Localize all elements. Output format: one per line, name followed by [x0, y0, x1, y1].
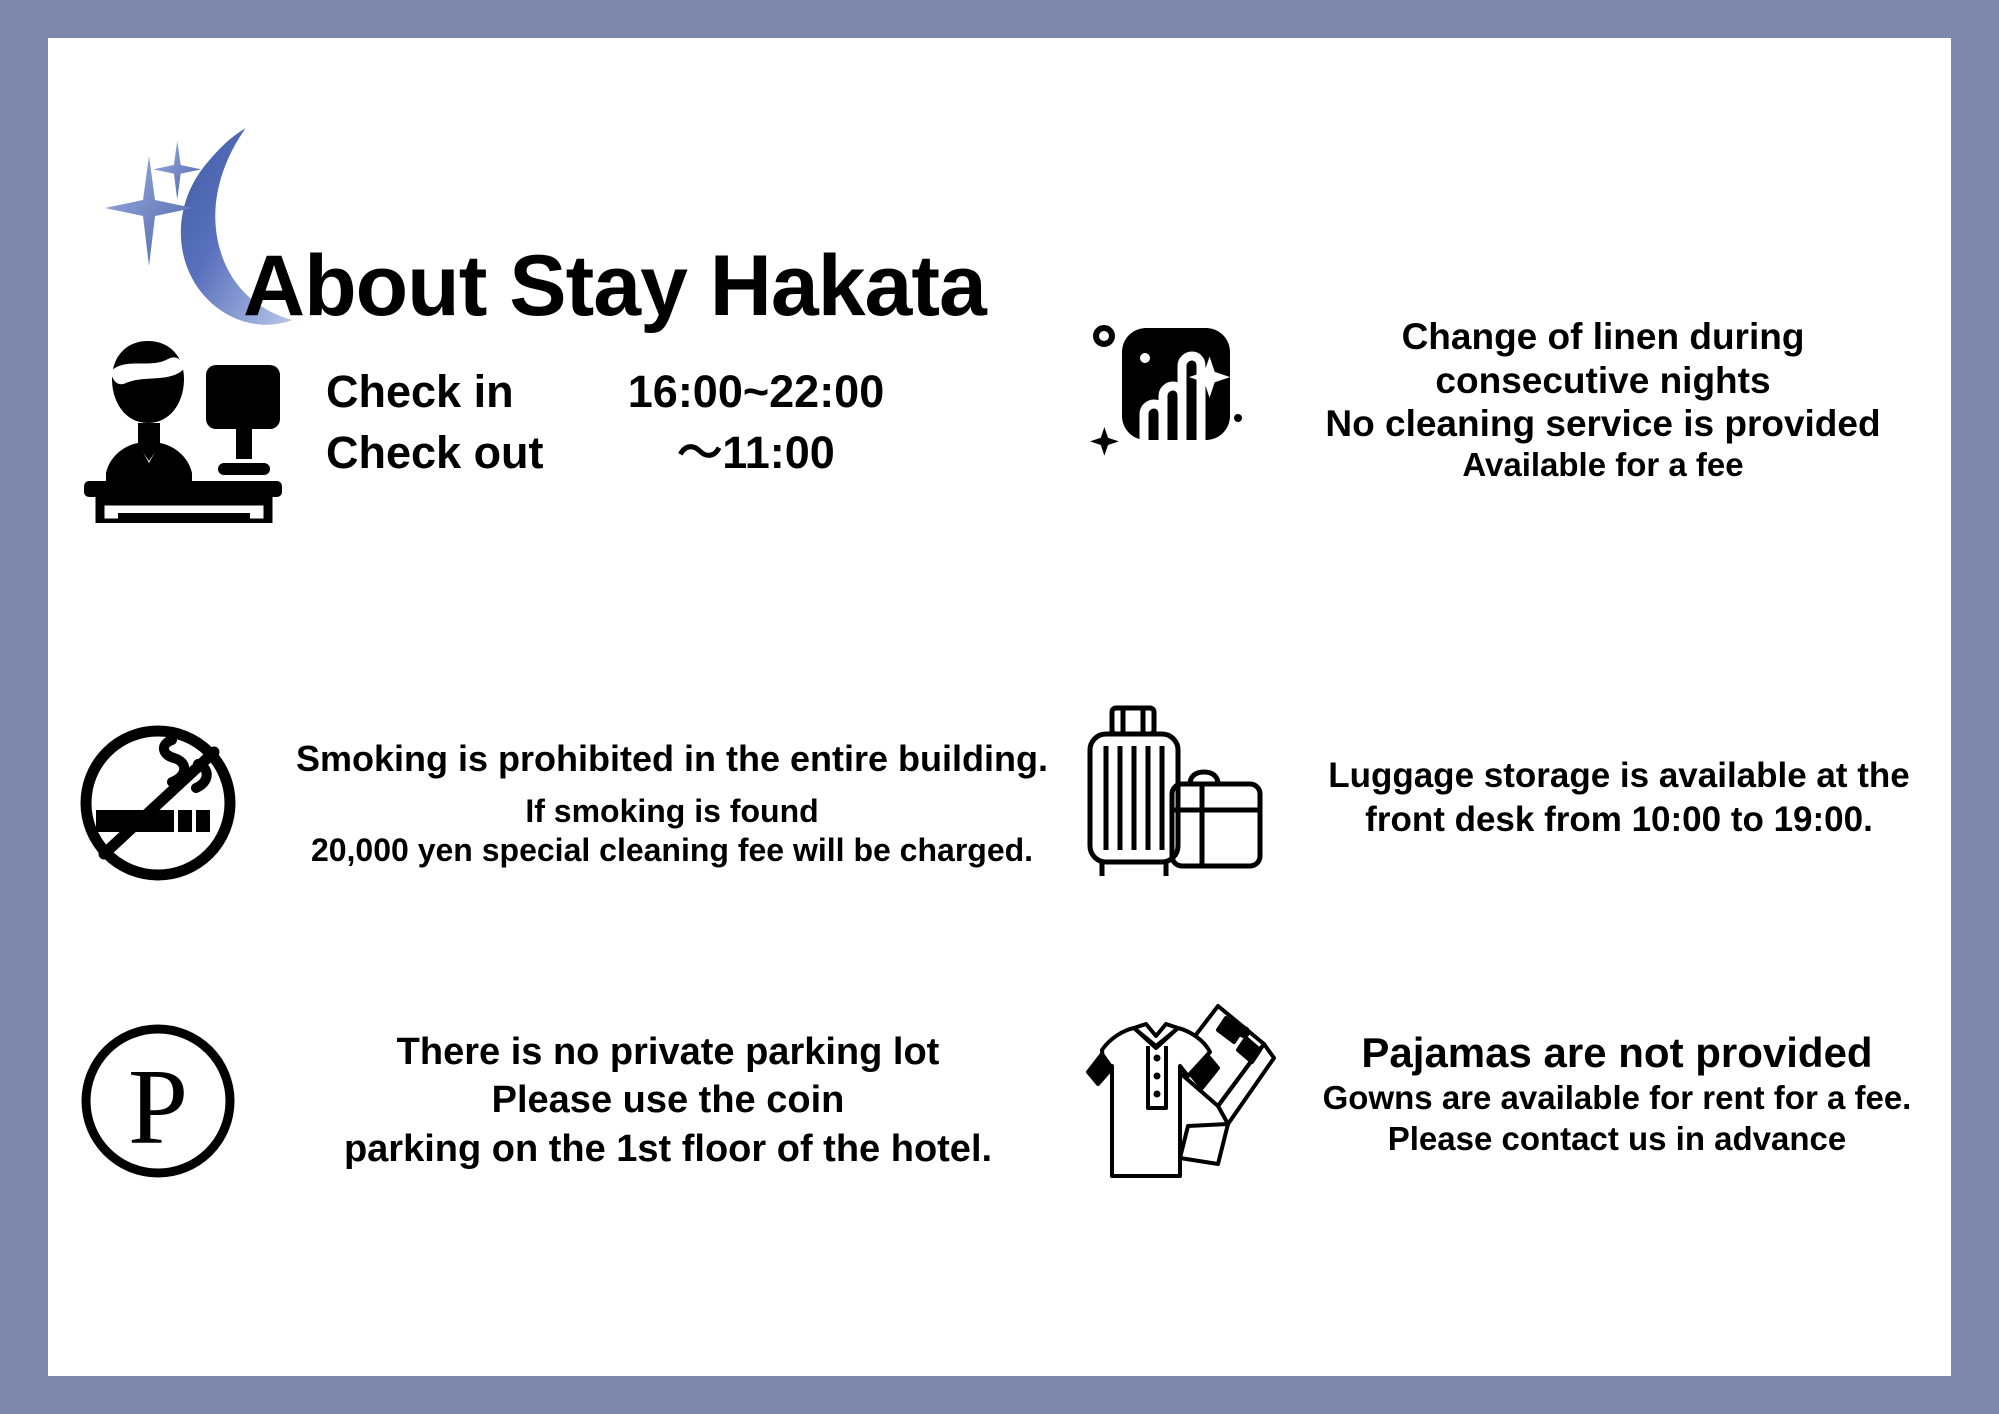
luggage-line-2: front desk from 10:00 to 19:00. [1290, 798, 1948, 842]
checkin-row: Check in 16:00~22:00 [326, 362, 916, 423]
linen-line-3: No cleaning service is provided [1268, 402, 1938, 446]
pajamas-section: Pajamas are not provided Gowns are avail… [1068, 998, 1948, 1188]
parking-p-circle-icon: P [68, 1013, 248, 1188]
smoking-line-2: If smoking is found [266, 792, 1078, 830]
luggage-line-1: Luggage storage is available at the [1290, 754, 1948, 798]
poster-header: About Stay Hakata [48, 38, 1951, 328]
checkin-value: 16:00~22:00 [596, 362, 916, 423]
checkout-row: Check out ～11:00 [326, 423, 916, 484]
parking-line-1: There is no private parking lot [258, 1028, 1078, 1077]
luggage-text-block: Luggage storage is available at the fron… [1290, 754, 1948, 842]
parking-section: P There is no private parking lot Please… [68, 1013, 1078, 1188]
checkin-section: Check in 16:00~22:00 Check out ～11:00 [78, 323, 878, 523]
luggage-suitcases-icon [1078, 698, 1278, 898]
info-poster: About Stay Hakata [48, 38, 1951, 1376]
linen-section: Change of linen during consecutive night… [1088, 310, 1938, 490]
linen-text-block: Change of linen during consecutive night… [1268, 315, 1938, 485]
checkout-value: ～11:00 [596, 423, 916, 484]
svg-text:P: P [128, 1048, 188, 1167]
smoking-text-block: Smoking is prohibited in the entire buil… [266, 737, 1078, 869]
pajamas-line-2: Gowns are available for rent for a fee. [1286, 1078, 1948, 1118]
linen-line-4: Available for a fee [1268, 446, 1938, 485]
checkin-times-table: Check in 16:00~22:00 Check out ～11:00 [326, 362, 916, 484]
smoking-section: Smoking is prohibited in the entire buil… [68, 718, 1078, 888]
page-title: About Stay Hakata [243, 243, 986, 329]
folded-shirt-pajamas-icon [1068, 998, 1278, 1188]
reception-desk-icon [78, 323, 288, 523]
pajamas-text-block: Pajamas are not provided Gowns are avail… [1286, 1027, 1948, 1159]
smoking-line-1: Smoking is prohibited in the entire buil… [266, 737, 1078, 780]
parking-line-3: parking on the 1st floor of the hotel. [258, 1125, 1078, 1174]
pajamas-line-3: Please contact us in advance [1286, 1119, 1948, 1159]
no-smoking-icon [68, 718, 248, 888]
luggage-section: Luggage storage is available at the fron… [1078, 698, 1948, 898]
cleaning-sparkle-hand-icon [1088, 310, 1248, 490]
smoking-line-3: 20,000 yen special cleaning fee will be … [266, 831, 1078, 869]
linen-line-1: Change of linen during [1268, 315, 1938, 359]
parking-text-block: There is no private parking lot Please u… [258, 1028, 1078, 1174]
pajamas-line-1: Pajamas are not provided [1286, 1027, 1948, 1078]
parking-line-2: Please use the coin [258, 1076, 1078, 1125]
checkin-label: Check in [326, 362, 596, 423]
linen-line-2: consecutive nights [1268, 359, 1938, 403]
checkout-label: Check out [326, 423, 596, 484]
